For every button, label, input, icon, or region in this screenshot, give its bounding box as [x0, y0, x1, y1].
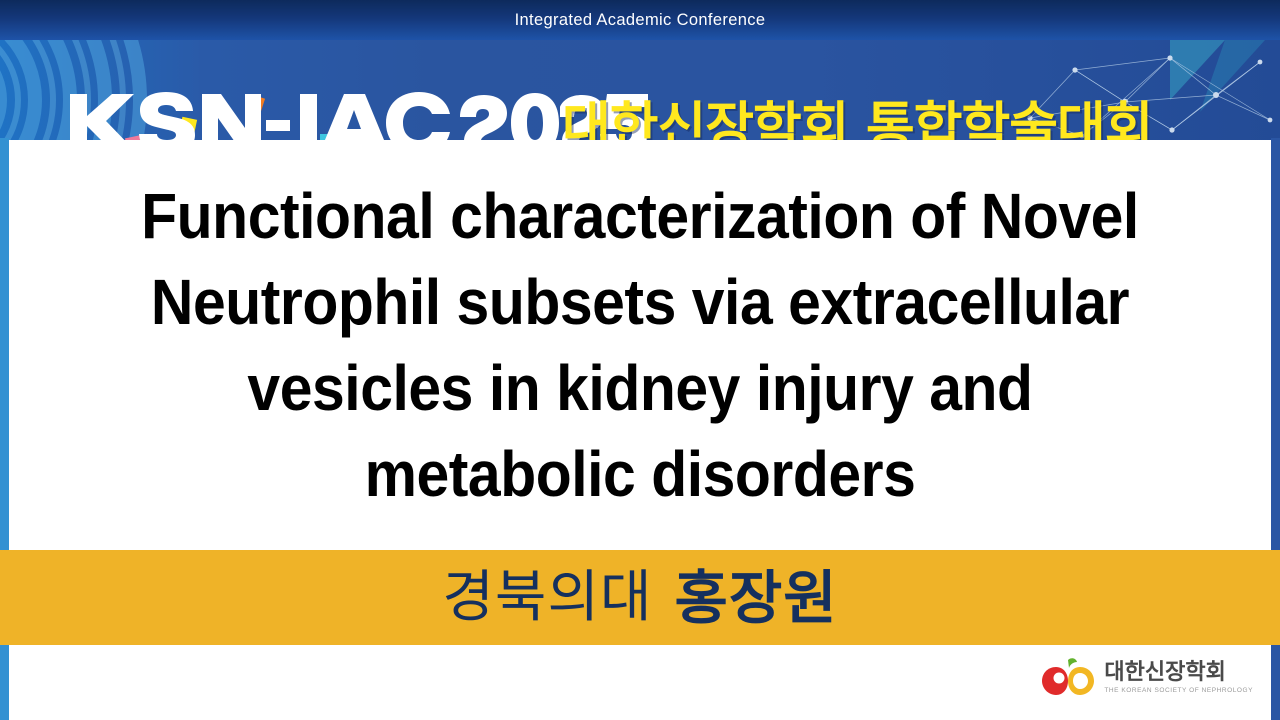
ksn-iac-wordmark [68, 92, 560, 140]
presenter-name: 홍장원 [675, 569, 838, 627]
presenter-affiliation: 경북의대 [442, 570, 652, 626]
society-name-english: THE KOREAN SOCIETY OF NEPHROLOGY [1104, 688, 1253, 695]
conference-banner: 대한신장학회 통합학술대회 [0, 40, 1280, 140]
slide-footer: 대한신장학회 THE KOREAN SOCIETY OF NEPHROLOGY [9, 645, 1271, 720]
banner-korean-title: 대한신장학회 통합학술대회 [562, 90, 1153, 140]
society-logo: 대한신장학회 THE KOREAN SOCIETY OF NEPHROLOGY [1040, 657, 1253, 699]
kidney-logo-icon [1040, 657, 1096, 699]
presentation-title: Functional characterization of Novel Neu… [125, 173, 1155, 517]
conference-subtitle: Integrated Academic Conference [515, 11, 766, 30]
presenter-bar: 경북의대 홍장원 [0, 550, 1280, 645]
conference-title-slide: Integrated Academic Conference [0, 0, 1280, 720]
title-card: Functional characterization of Novel Neu… [9, 140, 1271, 550]
society-text-block: 대한신장학회 THE KOREAN SOCIETY OF NEPHROLOGY [1104, 662, 1253, 695]
society-name-korean: 대한신장학회 [1104, 662, 1253, 684]
conference-top-strip: Integrated Academic Conference [0, 0, 1280, 40]
